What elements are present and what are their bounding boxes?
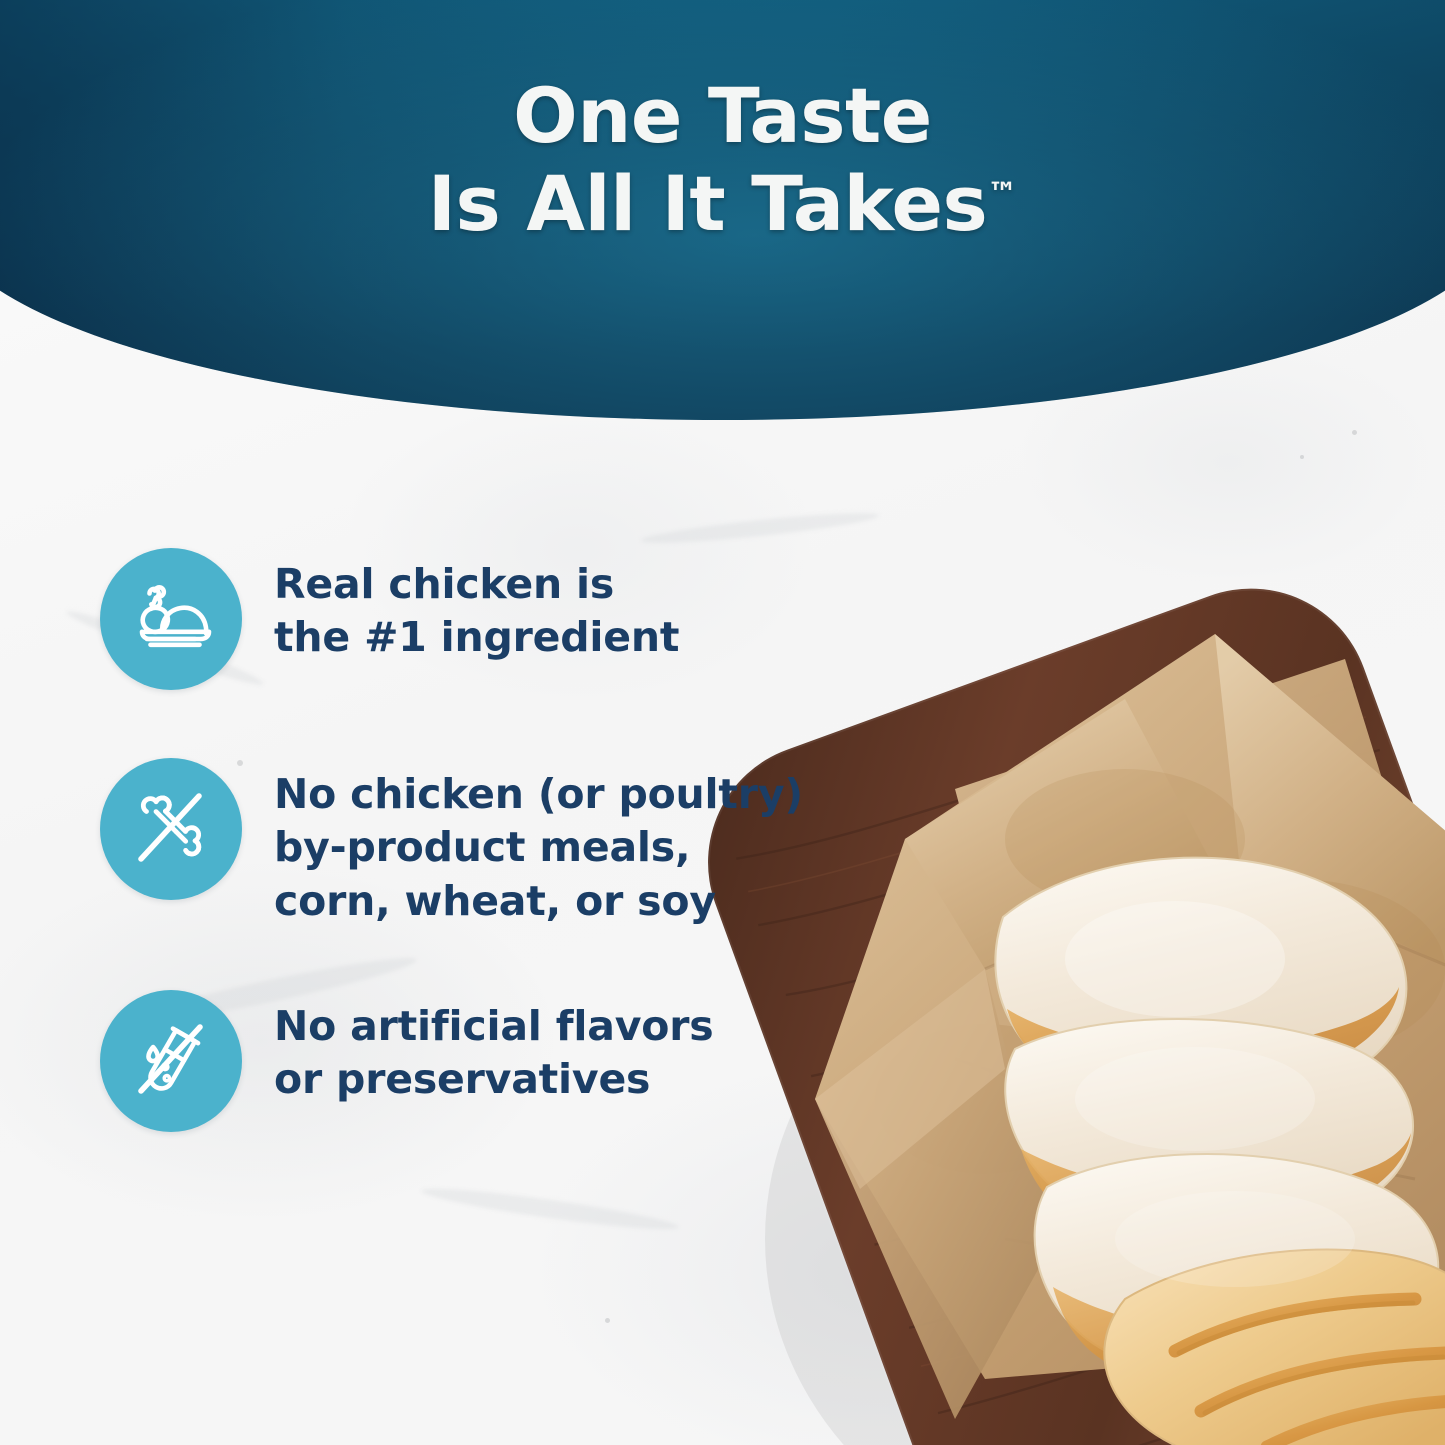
headline-line-2-text: Is All It Takes	[428, 159, 988, 248]
list-item-line: No chicken (or poultry)	[274, 768, 803, 821]
list-item-line: by-product meals,	[274, 821, 803, 874]
list-item: Real chicken is the #1 ingredient	[100, 548, 860, 690]
roast-chicken-platter-icon	[100, 548, 242, 690]
trademark-symbol: ™	[987, 177, 1017, 212]
headline-line-1: One Taste	[0, 72, 1445, 160]
marble-speck	[1300, 455, 1304, 459]
marble-speck	[605, 1318, 610, 1323]
list-item-line: corn, wheat, or soy	[274, 875, 803, 928]
infographic-canvas: One Taste Is All It Takes™	[0, 0, 1445, 1445]
no-bone-icon	[100, 758, 242, 900]
list-item: No artificial flavors or preservatives	[100, 990, 860, 1132]
list-item-text: No artificial flavors or preservatives	[274, 990, 713, 1107]
feature-list: Real chicken is the #1 ingredient	[100, 548, 860, 1132]
list-item-line: the #1 ingredient	[274, 611, 679, 664]
list-item-line: Real chicken is	[274, 558, 679, 611]
marble-speck	[1352, 430, 1357, 435]
list-item-line: No artificial flavors	[274, 1000, 713, 1053]
no-test-tube-icon	[100, 990, 242, 1132]
list-item-line: or preservatives	[274, 1053, 713, 1106]
list-item-text: No chicken (or poultry) by-product meals…	[274, 758, 803, 928]
list-item-text: Real chicken is the #1 ingredient	[274, 548, 679, 665]
headline-line-2: Is All It Takes™	[0, 160, 1445, 248]
page-headline: One Taste Is All It Takes™	[0, 72, 1445, 248]
list-item: No chicken (or poultry) by-product meals…	[100, 758, 860, 928]
